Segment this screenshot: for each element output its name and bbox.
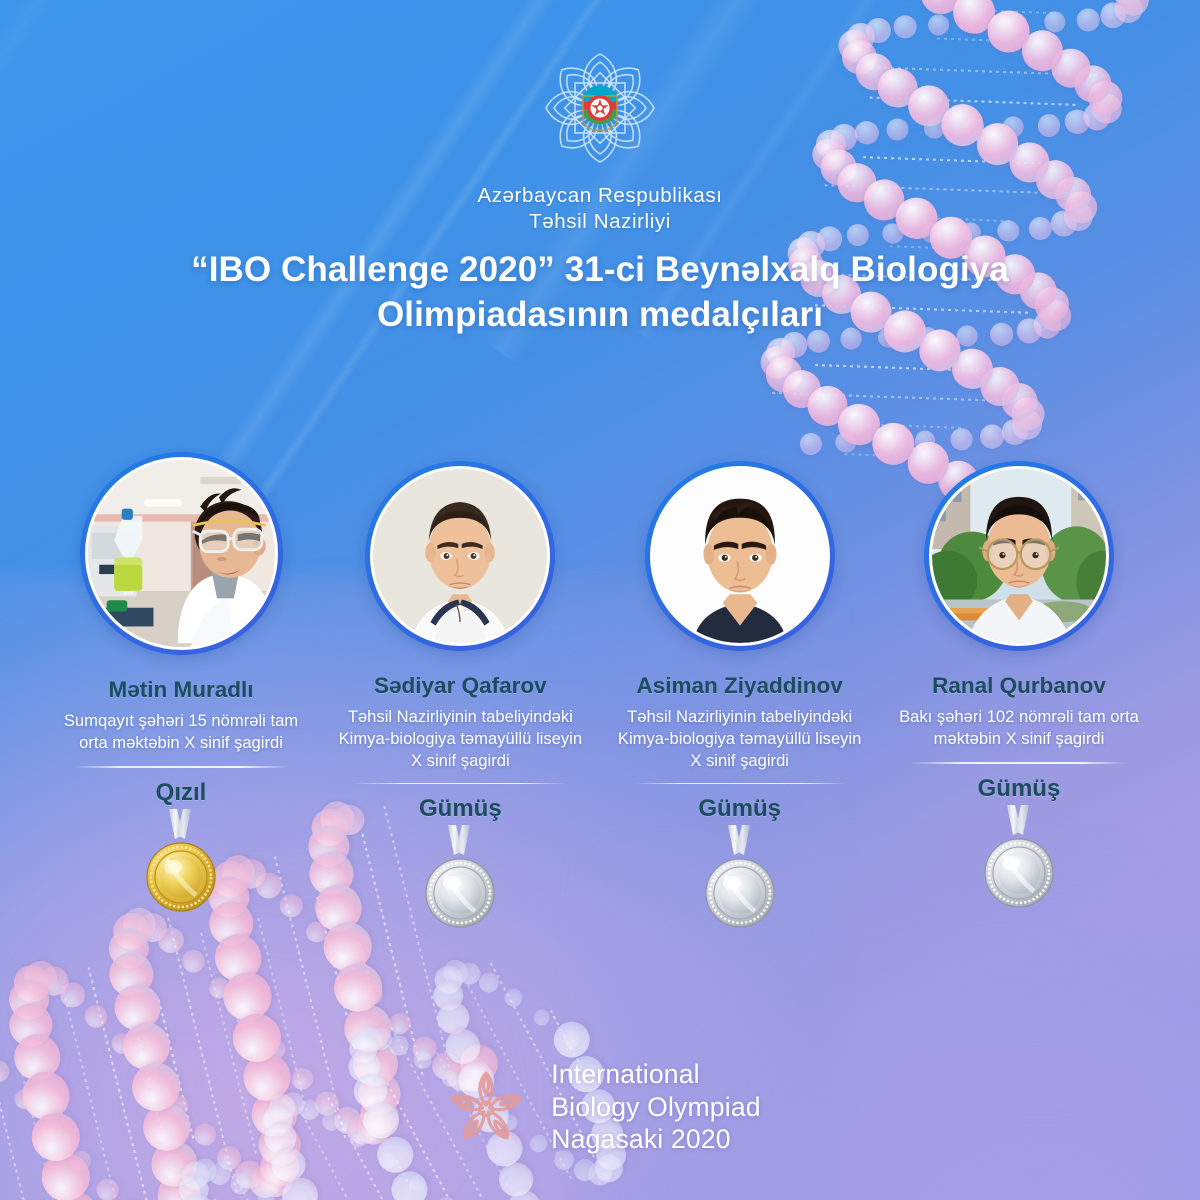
silver-medal-icon [412, 825, 508, 931]
poster-canvas: Azərbaycan Respublikası Təhsil Nazirliyi… [0, 0, 1200, 1200]
silver-medal-icon [971, 805, 1067, 911]
title-line-2: Olimpiadasının medalçıları [377, 295, 823, 334]
medalist-school: Bakı şəhəri 102 nömrəli tam orta məktəbi… [891, 706, 1147, 750]
medalist-school: Təhsil Nazirliyinin tabeliyindəki Kimya-… [332, 706, 588, 773]
card-divider [633, 783, 847, 785]
sakura-blossom-icon [439, 1060, 533, 1154]
avatar [650, 466, 830, 646]
medalist-name: Ranal Qurbanov [932, 673, 1106, 699]
avatar-ring [365, 461, 555, 651]
card-divider [74, 766, 288, 768]
medalist-card: Ranal Qurbanov Bakı şəhəri 102 nömrəli t… [886, 461, 1152, 931]
ibo-line-1: International [551, 1058, 760, 1091]
ministry-logo: Azərbaycan Respublikası Təhsil Nazirliyi [0, 46, 1200, 234]
medalist-card: Sədiyar Qafarov Təhsil Nazirliyinin tabe… [327, 461, 593, 931]
avatar [370, 466, 550, 646]
medal-label: Gümüş [978, 775, 1061, 803]
medal-label: Gümüş [419, 795, 502, 823]
avatar [929, 466, 1109, 646]
medalist-school: Sumqayıt şəhəri 15 nömrəli tam orta məkt… [53, 710, 309, 754]
ibo-line-2: Biology Olympiad [551, 1091, 760, 1124]
medalist-list: Mətin Muradlı Sumqayıt şəhəri 15 nömrəli… [0, 452, 1200, 931]
ibo-footer: International Biology Olympiad Nagasaki … [0, 1058, 1200, 1156]
card-divider [353, 783, 567, 785]
gold-medal-icon [133, 809, 229, 915]
medalist-card: Asiman Ziyaddinov Təhsil Nazirliyinin ta… [607, 461, 873, 931]
medalist-name: Sədiyar Qafarov [374, 673, 547, 699]
ministry-name-line2: Təhsil Nazirliyi [529, 210, 671, 234]
azerbaijan-emblem-icon [530, 46, 670, 176]
title-line-1: “IBO Challenge 2020” 31-ci Beynəlxalq Bi… [191, 250, 1009, 289]
card-divider [912, 762, 1126, 764]
avatar-ring [80, 452, 283, 655]
ibo-line-3: Nagasaki 2020 [551, 1123, 760, 1156]
ibo-event-text: International Biology Olympiad Nagasaki … [551, 1058, 760, 1156]
avatar [85, 457, 278, 650]
medalist-card: Mətin Muradlı Sumqayıt şəhəri 15 nömrəli… [48, 452, 314, 931]
medal-label: Qızıl [156, 779, 207, 807]
avatar-ring [645, 461, 835, 651]
silver-medal-icon [692, 825, 788, 931]
medalist-name: Asiman Ziyaddinov [637, 673, 843, 699]
medal-label: Gümüş [698, 795, 781, 823]
medalist-school: Təhsil Nazirliyinin tabeliyindəki Kimya-… [612, 706, 868, 773]
avatar-ring [924, 461, 1114, 651]
medalist-name: Mətin Muradlı [109, 677, 254, 703]
ministry-name-line1: Azərbaycan Respublikası [477, 184, 722, 208]
page-title: “IBO Challenge 2020” 31-ci Beynəlxalq Bi… [0, 248, 1200, 338]
